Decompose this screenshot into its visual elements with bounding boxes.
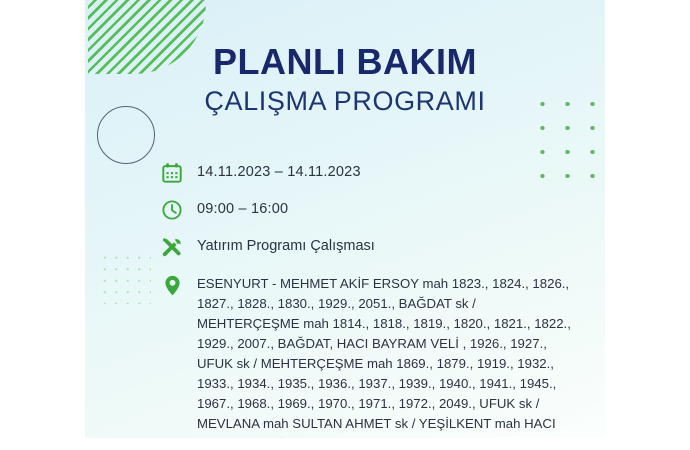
calendar-icon	[157, 158, 187, 188]
location-pin-icon	[157, 270, 187, 300]
clock-icon	[157, 195, 187, 225]
page-title: PLANLI BAKIM	[85, 44, 605, 81]
info-row-address: ESENYURT - MEHMET AKİF ERSOY mah 1823., …	[157, 269, 587, 438]
info-row-date: 14.11.2023 – 14.11.2023	[157, 158, 587, 188]
time-range-text: 09:00 – 16:00	[197, 195, 288, 221]
announcement-card: PLANLI BAKIM ÇALIŞMA PROGRAMI	[85, 0, 605, 438]
info-row-time: 09:00 – 16:00	[157, 195, 587, 225]
planned-maintenance-poster: PLANLI BAKIM ÇALIŞMA PROGRAMI	[0, 0, 690, 450]
info-row-work-type: Yatırım Programı Çalışması	[157, 232, 587, 262]
address-text: ESENYURT - MEHMET AKİF ERSOY mah 1823., …	[197, 270, 573, 438]
work-type-text: Yatırım Programı Çalışması	[197, 232, 375, 258]
date-range-text: 14.11.2023 – 14.11.2023	[197, 158, 361, 184]
dot-grid-left-decoration	[99, 252, 151, 304]
page-subtitle: ÇALIŞMA PROGRAMI	[85, 87, 605, 115]
poster-heading: PLANLI BAKIM ÇALIŞMA PROGRAMI	[85, 44, 605, 115]
info-rows: 14.11.2023 – 14.11.2023 09:00 – 16:00	[157, 158, 587, 438]
tools-icon	[157, 232, 187, 262]
